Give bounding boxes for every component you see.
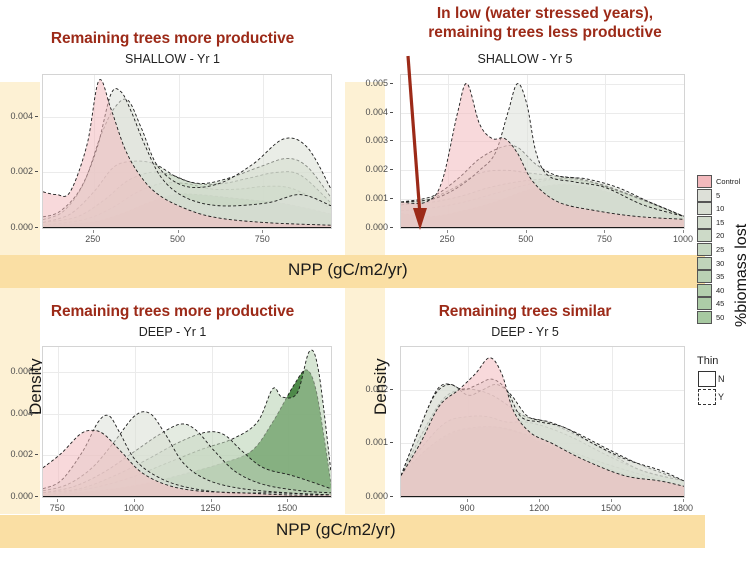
legend-swatch-45 (697, 297, 712, 310)
plot-baseline (43, 496, 331, 498)
legend-thin-label-n: N (718, 374, 725, 384)
y-tick-mark (390, 227, 393, 228)
legend-item-45[interactable]: 45 (697, 297, 724, 310)
x-tick-mark (467, 499, 468, 502)
x-tick-label: 900 (460, 503, 475, 513)
legend-label-30: 30 (716, 259, 724, 268)
x-tick-mark (262, 230, 263, 233)
gridline-horizontal (43, 228, 331, 229)
legend-item-50[interactable]: 50 (697, 311, 724, 324)
legend-swatch-15 (697, 216, 712, 229)
legend-swatch-25 (697, 243, 712, 256)
legend-item-10[interactable]: 10 (697, 202, 724, 215)
y-tick-label: 0.004 (10, 111, 33, 121)
legend-label-35: 35 (716, 272, 724, 281)
y-tick-mark (390, 496, 393, 497)
legend-item-30[interactable]: 30 (697, 257, 724, 270)
legend-label-15: 15 (716, 218, 724, 227)
x-tick-mark (93, 230, 94, 233)
panel-shallow-yr1: Remaining trees more productive SHALLOW … (0, 24, 345, 264)
x-tick-mark (57, 499, 58, 502)
y-tick-mark (390, 112, 393, 113)
thin-solid-swatch (698, 371, 716, 387)
legend-swatch-20 (697, 229, 712, 242)
y-tick-label: 0.001 (365, 193, 388, 203)
y-tick-label: 0.004 (10, 408, 33, 418)
panel-title-deep-yr5: DEEP - Yr 5 (365, 325, 685, 339)
panel-deep-yr5: Remaining trees similar DEEP - Yr 5 0.00… (345, 288, 705, 518)
panel-callout-deep-yr1: Remaining trees more productive (0, 303, 345, 321)
panel-title-deep-yr1: DEEP - Yr 1 (0, 325, 345, 339)
x-tick-mark (526, 230, 527, 233)
x-tick-label: 500 (170, 234, 185, 244)
legend-item-25[interactable]: 25 (697, 243, 724, 256)
y-tick-mark (35, 454, 38, 455)
legend-thin-option-n[interactable]: N (698, 371, 725, 387)
x-tick-mark (211, 499, 212, 502)
y-tick-label: 0.001 (365, 437, 388, 447)
legend-swatch-50 (697, 311, 712, 324)
legend-swatch-control (697, 175, 712, 188)
gridline-vertical (684, 347, 685, 497)
x-tick-mark (539, 499, 540, 502)
y-tick-mark (390, 198, 393, 199)
legend-label-40: 40 (716, 286, 724, 295)
legend-swatch-5 (697, 189, 712, 202)
density-curves-deep-yr1 (43, 347, 331, 497)
legend-label-control: Control (716, 177, 740, 186)
panel-title-shallow-yr1: SHALLOW - Yr 1 (0, 52, 345, 66)
y-tick-mark (35, 227, 38, 228)
panel-callout-shallow-yr1: Remaining trees more productive (0, 30, 345, 48)
legend-item-5[interactable]: 5 (697, 189, 720, 202)
legend-item-control[interactable]: Control (697, 175, 740, 188)
legend: Control5101520253035404550 %biomass lost… (697, 175, 750, 410)
x-tick-mark (611, 499, 612, 502)
x-tick-mark (683, 230, 684, 233)
annotation-line-1: In low (water stressed years), (390, 5, 700, 24)
legend-swatch-10 (697, 202, 712, 215)
legend-swatch-30 (697, 257, 712, 270)
plot-area-shallow-yr1 (42, 74, 332, 229)
y-tick-mark (390, 140, 393, 141)
y-axis-deep-yr1: 0.0000.0020.0040.006 (0, 346, 40, 498)
x-tick-label: 1200 (529, 503, 549, 513)
thin-dashed-swatch (698, 389, 716, 405)
x-axis-deep-yr5: 900120015001800 (400, 499, 685, 519)
panel-callout-deep-yr5: Remaining trees similar (365, 303, 685, 321)
x-tick-label: 1250 (200, 503, 220, 513)
legend-item-20[interactable]: 20 (697, 229, 724, 242)
plot-area-deep-yr1 (42, 346, 332, 498)
y-tick-mark (390, 83, 393, 84)
y-tick-mark (390, 442, 393, 443)
x-axis-title-bottom: NPP (gC/m2/yr) (276, 520, 396, 540)
x-tick-label: 750 (255, 234, 270, 244)
y-tick-label: 0.000 (10, 491, 33, 501)
y-tick-label: 0.002 (365, 164, 388, 174)
plot-baseline (401, 496, 684, 498)
gridline-horizontal (401, 497, 684, 498)
annotation-arrow (395, 50, 455, 235)
panel-deep-yr1: Remaining trees more productive DEEP - Y… (0, 288, 345, 518)
y-axis-shallow-yr5: 0.0000.0010.0020.0030.0040.005 (353, 74, 395, 229)
x-tick-mark (683, 499, 684, 502)
y-tick-mark (390, 169, 393, 170)
y-tick-label: 0.004 (365, 107, 388, 117)
x-tick-label: 750 (50, 503, 65, 513)
y-tick-label: 0.000 (365, 491, 388, 501)
x-tick-mark (287, 499, 288, 502)
legend-thin-option-y[interactable]: Y (698, 389, 724, 405)
legend-label-5: 5 (716, 191, 720, 200)
legend-label-50: 50 (716, 313, 724, 322)
y-tick-label: 0.002 (10, 449, 33, 459)
y-tick-label: 0.006 (10, 366, 33, 376)
x-tick-label: 1500 (601, 503, 621, 513)
y-tick-mark (35, 496, 38, 497)
y-tick-label: 0.000 (10, 222, 33, 232)
gridline-vertical (684, 75, 685, 228)
legend-label-20: 20 (716, 231, 724, 240)
density-curves-deep-yr5 (401, 347, 684, 497)
y-tick-label: 0.005 (365, 78, 388, 88)
x-tick-label: 1500 (277, 503, 297, 513)
y-tick-label: 0.000 (365, 222, 388, 232)
y-tick-label: 0.003 (365, 135, 388, 145)
legend-item-40[interactable]: 40 (697, 284, 724, 297)
plot-area-deep-yr5 (400, 346, 685, 498)
density-curves-shallow-yr1 (43, 75, 331, 228)
y-tick-mark (390, 389, 393, 390)
x-axis-shallow-yr1: 250500750 (42, 230, 332, 250)
y-tick-mark (35, 116, 38, 117)
gridline-horizontal (43, 497, 331, 498)
y-axis-shallow-yr1: 0.0000.0020.004 (0, 74, 40, 229)
x-tick-label: 1800 (673, 503, 693, 513)
x-tick-label: 1000 (673, 234, 693, 244)
x-tick-label: 500 (518, 234, 533, 244)
legend-item-35[interactable]: 35 (697, 270, 724, 283)
y-tick-label: 0.002 (10, 166, 33, 176)
legend-item-15[interactable]: 15 (697, 216, 724, 229)
plot-baseline (43, 227, 331, 229)
x-tick-label: 250 (85, 234, 100, 244)
y-axis-deep-yr5: 0.0000.0010.002 (353, 346, 395, 498)
x-axis-deep-yr1: 750100012501500 (42, 499, 332, 519)
x-tick-mark (604, 230, 605, 233)
legend-swatch-40 (697, 284, 712, 297)
legend-label-25: 25 (716, 245, 724, 254)
legend-label-45: 45 (716, 299, 724, 308)
legend-thin-title: Thin (697, 355, 718, 367)
y-tick-mark (35, 371, 38, 372)
legend-swatch-35 (697, 270, 712, 283)
x-tick-mark (178, 230, 179, 233)
y-tick-mark (35, 413, 38, 414)
annotation-line-2: remaining trees less productive (390, 24, 700, 43)
y-tick-label: 0.002 (365, 384, 388, 394)
x-tick-label: 750 (597, 234, 612, 244)
y-tick-mark (35, 171, 38, 172)
legend-thin-label-y: Y (718, 392, 724, 402)
legend-title: %biomass lost (733, 224, 750, 327)
annotation-water-stress: In low (water stressed years), remaining… (390, 5, 700, 43)
x-tick-label: 250 (440, 234, 455, 244)
x-tick-mark (134, 499, 135, 502)
x-tick-label: 1000 (124, 503, 144, 513)
legend-label-10: 10 (716, 204, 724, 213)
